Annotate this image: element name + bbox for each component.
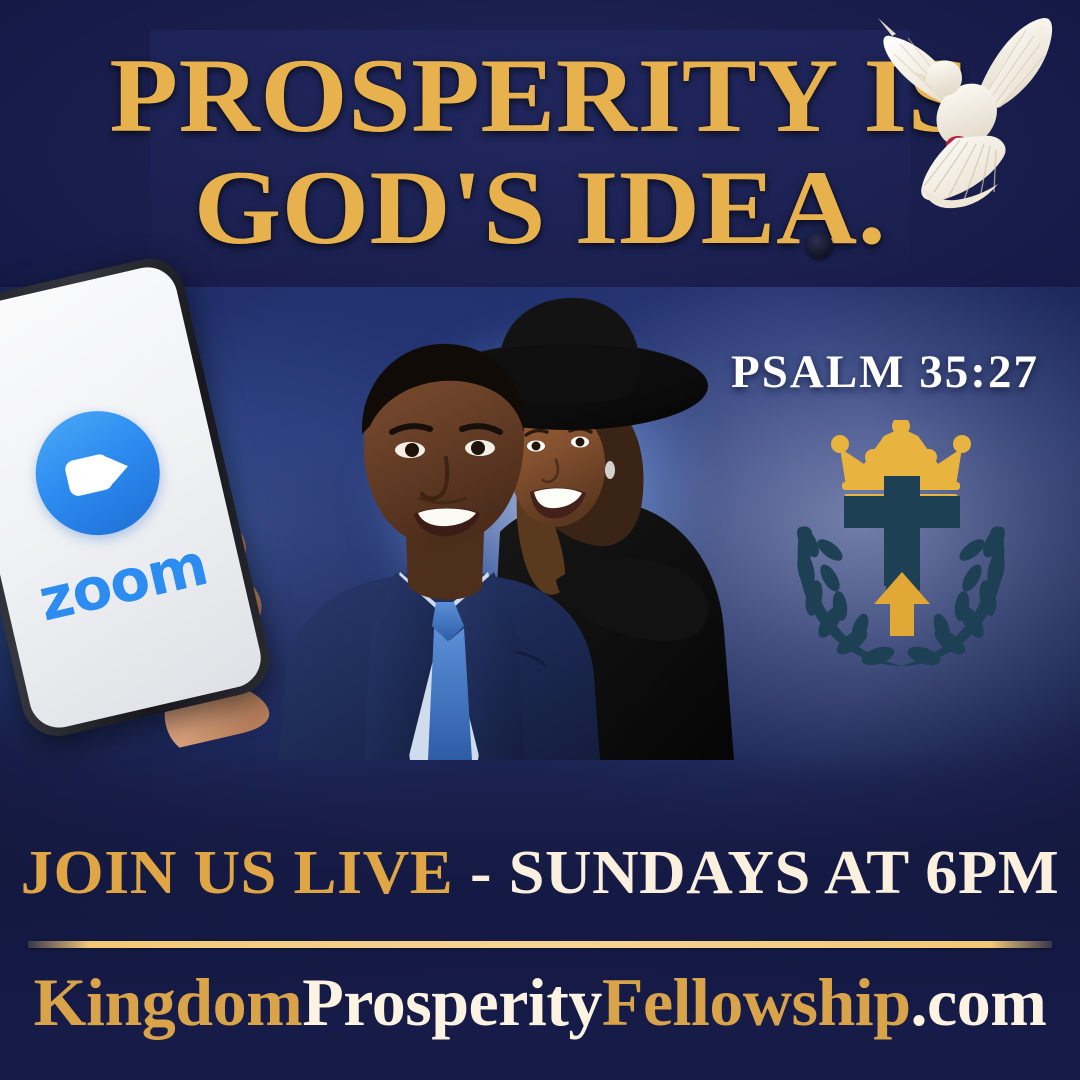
- url-part-fellowship: Fellowship: [602, 964, 911, 1040]
- scripture-reference: PSALM 35:27: [700, 345, 1070, 399]
- url-part-prosperity: Prosperity: [302, 964, 602, 1040]
- dove-icon: [848, 14, 1080, 229]
- cta-separator: -: [453, 839, 508, 907]
- headline-dot-artifact: [806, 232, 833, 259]
- up-arrow: [874, 572, 930, 636]
- church-emblem: [778, 420, 1024, 670]
- gold-divider: [28, 941, 1052, 948]
- phone-screen: zoom: [0, 261, 267, 733]
- cta-highlight: JOIN US LIVE: [21, 839, 454, 907]
- prosperity-flyer: PROSPERITY IS GOD'S IDEA.: [0, 0, 1080, 1080]
- website-url[interactable]: KingdomProsperityFellowship.com: [0, 963, 1080, 1042]
- zoom-wordmark: zoom: [0, 523, 245, 642]
- url-part-tld: .com: [911, 964, 1047, 1040]
- cta-detail: SUNDAYS AT 6PM: [509, 839, 1060, 907]
- call-to-action: JOIN US LIVE - SUNDAYS AT 6PM: [0, 838, 1080, 909]
- video-camera-icon: [23, 399, 172, 548]
- url-part-kingdom: Kingdom: [34, 964, 303, 1040]
